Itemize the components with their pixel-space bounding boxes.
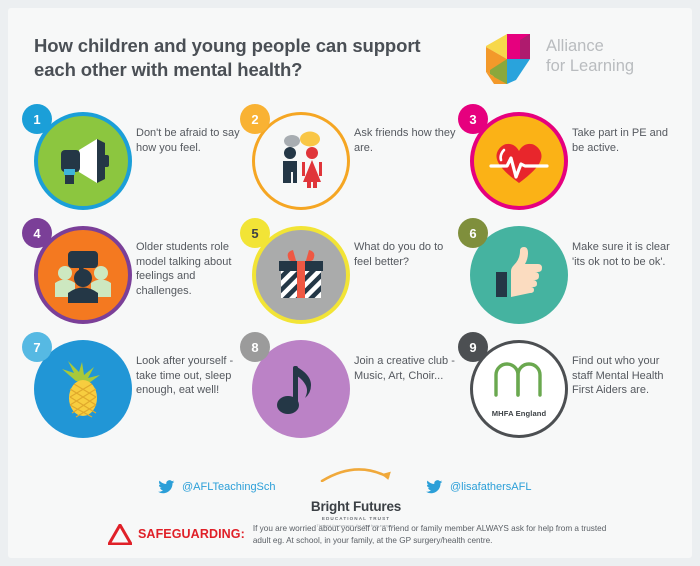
tip-number-9: 9 [458,332,488,362]
twitter-handle-afl[interactable]: @AFLTeachingSch [158,480,276,494]
tip-label-5: What do you do to feel better? [354,240,458,269]
brand-logo: Alliance for Learning [476,30,676,90]
tip-number-8: 8 [240,332,270,362]
tip-item-6[interactable]: 6 Make sure it is clear 'its ok not to b… [448,222,676,334]
twitter-handle-lisa-label: @lisafathersAFL [450,481,531,493]
tip-label-2: Ask friends how they are. [354,126,458,155]
twitter-icon [158,480,175,494]
tip-item-3[interactable]: 3 Take part in PE and be active. [448,108,676,220]
warning-triangle-icon [108,524,132,545]
tip-label-1: Don't be afraid to say how you feel. [136,126,240,155]
logo-wordmark: Alliance for Learning [546,36,681,76]
tip-label-3: Take part in PE and be active. [572,126,682,155]
music-note-icon [273,359,329,419]
tip-item-9[interactable]: MHFA England 9 Find out who your staff M… [448,336,676,448]
safeguarding-text: If you are worried about yourself or a f… [253,523,613,546]
footer-logos: @AFLTeachingSch Bright Futures EDUCATION… [8,466,692,514]
tip-item-4[interactable]: 4 Older students role model talking abou… [12,222,240,334]
twitter-icon [426,480,443,494]
tip-label-9: Find out who your staff Mental Health Fi… [572,354,682,398]
tip-number-6: 6 [458,218,488,248]
tip-label-7: Look after yourself - take time out, sle… [136,354,240,398]
heart-pulse-icon [487,133,551,189]
two-people-talking-icon [268,130,334,192]
alliance-for-learning-logo-icon [476,30,538,88]
thumbs-up-icon [489,246,549,304]
tip-item-5[interactable]: 5 What do you do to feel better? [230,222,458,334]
tip-number-2: 2 [240,104,270,134]
logo-line-1: Alliance [546,36,681,56]
twitter-handle-lisa[interactable]: @lisafathersAFL [426,480,531,494]
safeguarding-label: SAFEGUARDING: [138,527,245,541]
tip-number-5: 5 [240,218,270,248]
tip-label-8: Join a creative club - Music, Art, Choir… [354,354,458,383]
page-title: How children and young people can suppor… [34,34,464,82]
bright-futures-name: Bright Futures [298,499,414,514]
mhfa-caption: MHFA England [473,409,565,418]
tips-grid: 1 Don't be afraid to say how you feel. [8,104,692,460]
gift-box-icon [271,246,331,304]
tip-number-3: 3 [458,104,488,134]
header: How children and young people can suppor… [8,8,692,104]
mhfa-england-logo-icon [482,351,554,411]
bright-futures-arc-icon [316,466,396,482]
tip-item-2[interactable]: 2 Ask friends how they are. [230,108,458,220]
logo-line-2: for Learning [546,56,681,76]
tip-item-7[interactable]: 7 Look after yourself - take time out, s… [12,336,240,448]
tip-item-8[interactable]: 8 Join a creative club - Music, Art, Cho… [230,336,458,448]
group-speech-bubble-icon [50,245,116,305]
tip-item-1[interactable]: 1 Don't be afraid to say how you feel. [12,108,240,220]
safeguarding-bar: SAFEGUARDING: If you are worried about y… [8,514,692,558]
tip-label-6: Make sure it is clear 'its ok not to be … [572,240,682,269]
twitter-handle-afl-label: @AFLTeachingSch [182,481,276,493]
tip-number-7: 7 [22,332,52,362]
tip-label-4: Older students role model talking about … [136,240,240,298]
tip-number-4: 4 [22,218,52,248]
megaphone-icon [51,133,115,189]
infographic-card: How children and young people can suppor… [8,8,692,558]
pineapple-icon [52,359,114,419]
tip-number-1: 1 [22,104,52,134]
